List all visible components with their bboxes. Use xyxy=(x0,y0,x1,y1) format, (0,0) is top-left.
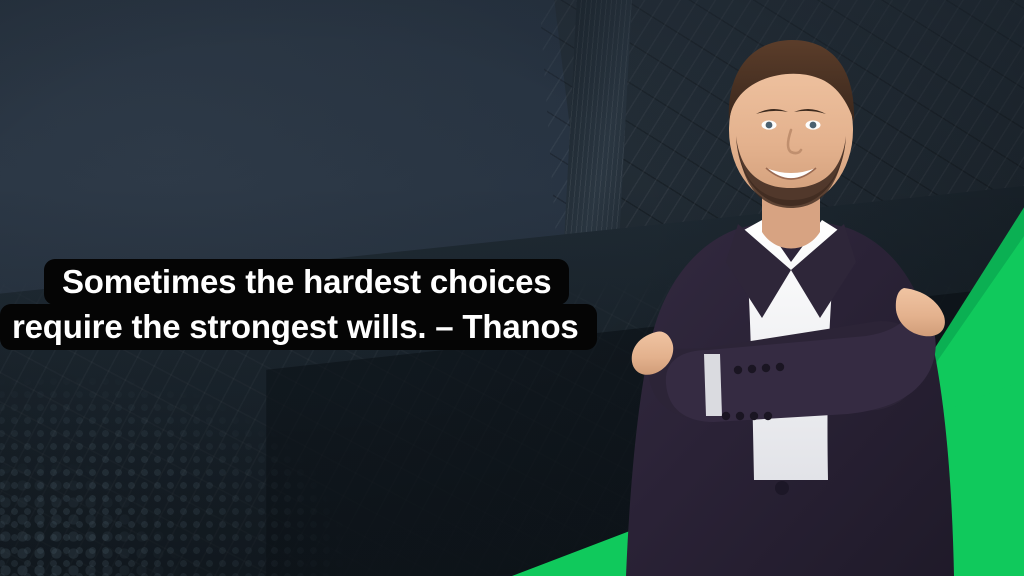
quote-line-2: require the strongest wills. – Thanos xyxy=(0,304,597,350)
quote-graphic-canvas: Sometimes the hardest choices require th… xyxy=(0,0,1024,576)
person-head xyxy=(729,40,854,208)
suit-front-button xyxy=(775,481,789,495)
quote-line-1: Sometimes the hardest choices xyxy=(44,259,569,305)
quote-caption: Sometimes the hardest choices require th… xyxy=(0,259,760,350)
